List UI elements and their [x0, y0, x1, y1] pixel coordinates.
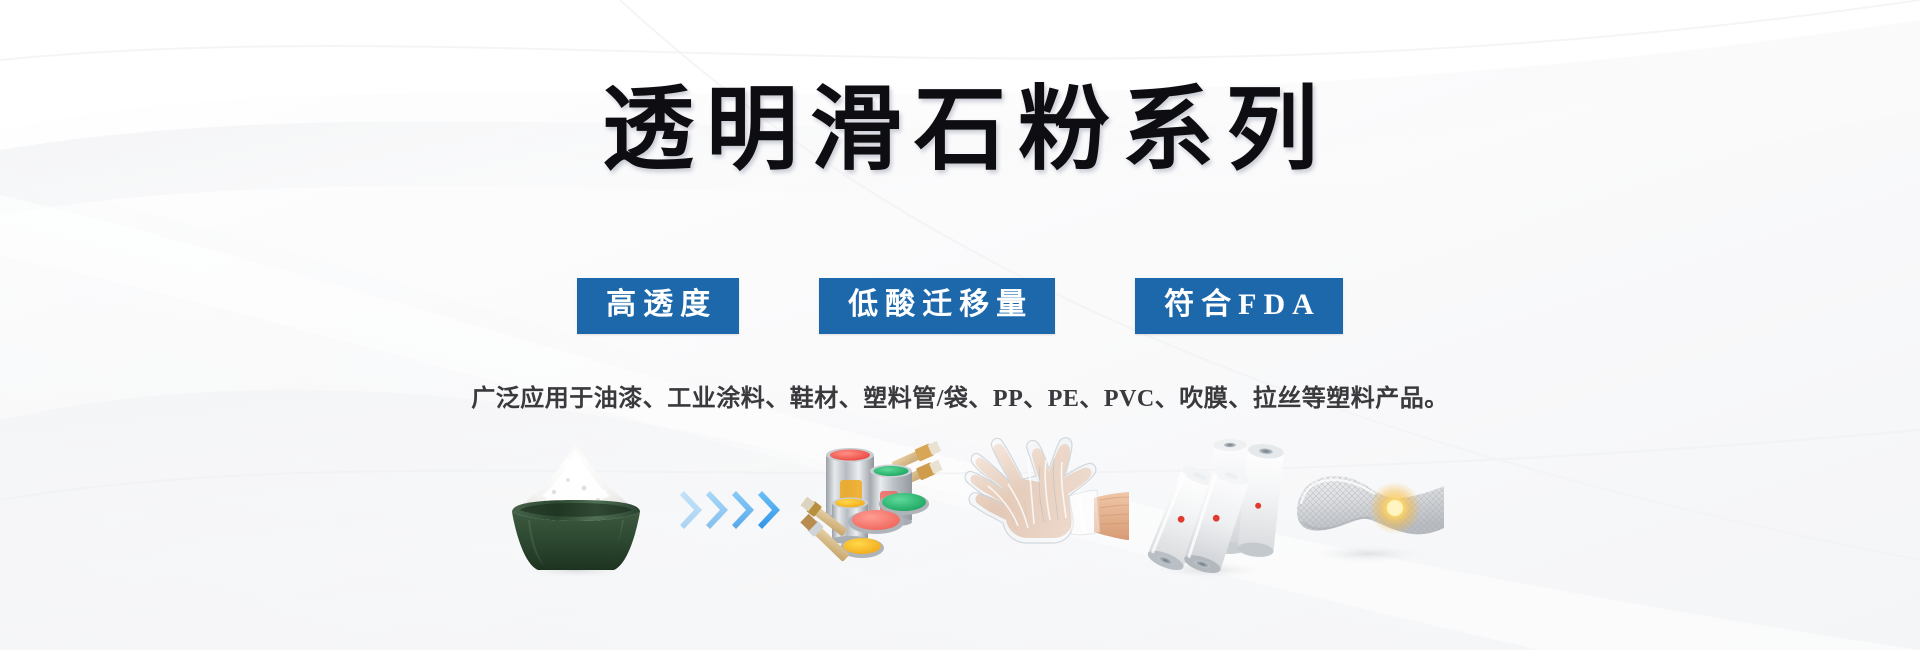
title-container: 透明滑石粉系列 — [0, 84, 1920, 176]
page-title: 透明滑石粉系列 — [590, 84, 1330, 176]
talc-powder-bowl-image — [476, 436, 676, 586]
shoe-sole-image — [1289, 436, 1444, 586]
feature-tag-fda-compliant[interactable]: 符合FDA — [1135, 278, 1343, 334]
feature-tag-low-acid-migration[interactable]: 低酸迁移量 — [819, 278, 1055, 334]
chevron-right-icon-4 — [758, 491, 780, 529]
application-description: 广泛应用于油漆、工业涂料、鞋材、塑料管/袋、PP、PE、PVC、吹膜、拉丝等塑料… — [0, 378, 1920, 413]
paint-cans-image — [794, 436, 954, 586]
chevron-right-icon-2 — [706, 491, 728, 529]
chevron-right-icon-3 — [732, 491, 754, 529]
process-arrows-icon — [676, 436, 794, 586]
plastic-glove-image — [954, 436, 1129, 586]
product-image-strip — [0, 436, 1920, 586]
feature-tag-list: 高透度 低酸迁移量 符合FDA — [0, 278, 1920, 334]
feature-tag-high-transparency[interactable]: 高透度 — [577, 278, 739, 334]
plastic-film-rolls-image — [1129, 436, 1289, 586]
product-banner: 透明滑石粉系列 高透度 低酸迁移量 符合FDA 广泛应用于油漆、工业涂料、鞋材、… — [0, 0, 1920, 650]
chevron-right-icon-1 — [680, 491, 702, 529]
glove-film-overlay — [965, 438, 1100, 543]
